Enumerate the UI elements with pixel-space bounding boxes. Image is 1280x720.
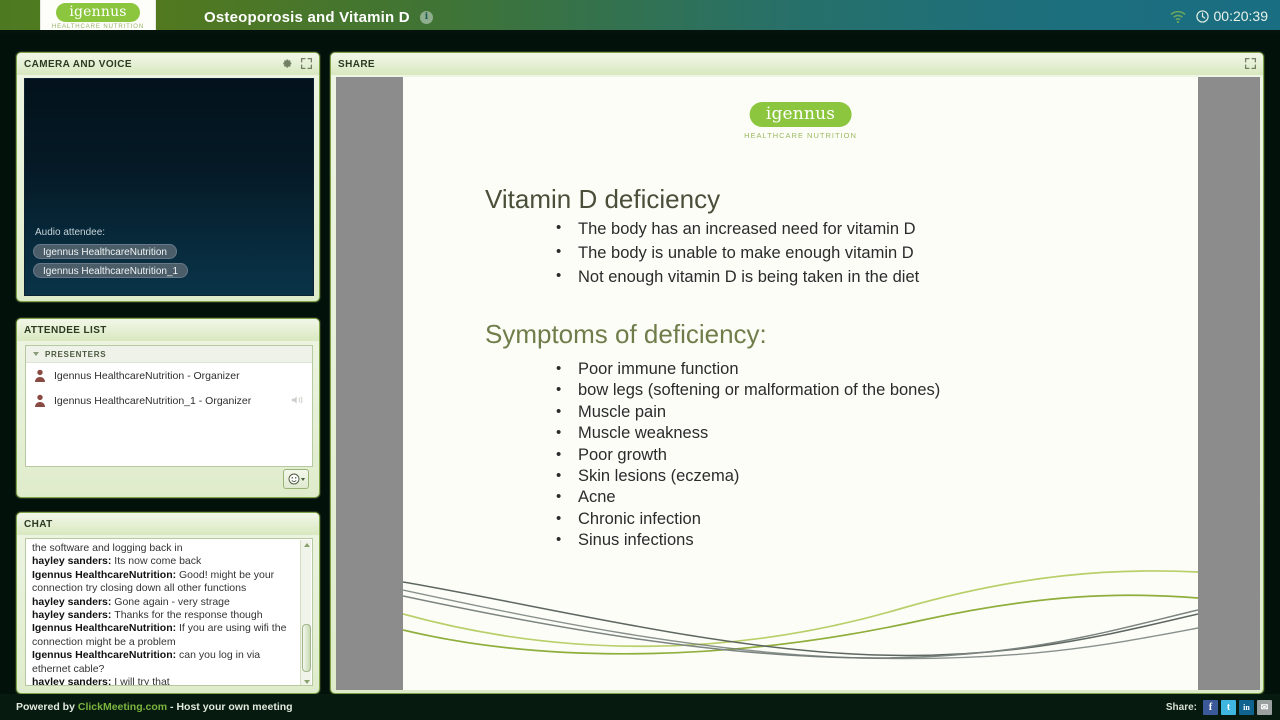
attendee-list-panel: ATTENDEE LIST PRESENTERS Igennus Healthc… <box>16 318 320 498</box>
chat-author: hayley sanders: <box>32 609 114 621</box>
slide-bullet: Muscle pain <box>548 402 940 423</box>
slide-bullet: The body is unable to make enough vitami… <box>548 241 919 265</box>
expand-icon[interactable] <box>300 57 313 70</box>
smiley-icon <box>288 473 300 485</box>
chat-author: Igennus HealthcareNutrition: <box>32 569 179 581</box>
attendee-name: Igennus HealthcareNutrition - Organizer <box>54 370 240 382</box>
camera-and-voice-panel: CAMERA AND VOICE Audio attendee: Igennus… <box>16 52 320 302</box>
chat-text: Gone again - very strage <box>114 596 230 608</box>
share-panel: SHARE igennus HEALTHCARE NUTRITION Vitam… <box>330 52 1264 694</box>
chat-panel: CHAT the software and logging back inhay… <box>16 512 320 694</box>
slide-bullets-symptoms: Poor immune functionbow legs (softening … <box>548 359 940 552</box>
person-icon <box>34 394 46 407</box>
brand-logo: igennus HEALTHCARE NUTRITION <box>40 0 156 34</box>
chat-message: Igennus HealthcareNutrition: Good! might… <box>32 569 298 596</box>
slide-bullet: Chronic infection <box>548 509 940 530</box>
attendee-row[interactable]: Igennus HealthcareNutrition_1 - Organize… <box>26 388 312 413</box>
attendee-row[interactable]: Igennus HealthcareNutrition - Organizer <box>26 363 312 388</box>
chevron-down-icon[interactable] <box>301 478 305 481</box>
slide-bullet: Not enough vitamin D is being taken in t… <box>548 265 919 289</box>
attendee-name: Igennus HealthcareNutrition_1 - Organize… <box>54 395 251 407</box>
audio-attendee-label: Audio attendee: <box>35 227 105 238</box>
powered-suffix: - Host your own meeting <box>167 701 292 713</box>
share-panel-header: SHARE <box>331 53 1263 75</box>
slide-bullets-causes: The body has an increased need for vitam… <box>548 217 919 289</box>
expand-icon[interactable] <box>1244 57 1257 70</box>
slide-bullet: Poor growth <box>548 445 940 466</box>
brand-logo-name: igennus <box>56 3 139 22</box>
twitter-share-button[interactable]: t <box>1221 700 1236 715</box>
camera-video-feed[interactable]: Audio attendee: Igennus HealthcareNutrit… <box>24 78 314 296</box>
emoji-button[interactable] <box>283 469 309 489</box>
timer-value: 00:20:39 <box>1214 8 1269 24</box>
presenters-group-label: PRESENTERS <box>45 350 106 359</box>
chat-author: hayley sanders: <box>32 596 114 608</box>
chat-author: Igennus HealthcareNutrition: <box>32 622 179 634</box>
chat-author: hayley sanders: <box>32 555 114 567</box>
info-icon[interactable]: i <box>420 11 433 24</box>
facebook-share-button[interactable]: f <box>1203 700 1218 715</box>
camera-panel-title: CAMERA AND VOICE <box>24 59 132 70</box>
brand-logo-tagline: HEALTHCARE NUTRITION <box>52 24 144 30</box>
powered-by: Powered by ClickMeeting.com - Host your … <box>16 701 293 713</box>
attendee-panel-title: ATTENDEE LIST <box>24 325 107 336</box>
gear-icon[interactable] <box>280 57 293 70</box>
share-label: Share: <box>1166 702 1197 713</box>
email-share-button[interactable]: ✉ <box>1257 700 1272 715</box>
clickmeeting-link[interactable]: ClickMeeting.com <box>78 701 167 713</box>
chat-panel-header: CHAT <box>17 513 319 535</box>
audio-attendee-badge: Igennus HealthcareNutrition_1 <box>33 263 188 278</box>
wifi-icon <box>1170 11 1186 23</box>
slide-logo-name: igennus <box>750 102 851 127</box>
webinar-app: igennus HEALTHCARE NUTRITION Osteoporosi… <box>0 0 1280 720</box>
slide-bullet: bow legs (softening or malformation of t… <box>548 380 940 401</box>
linkedin-share-button[interactable]: in <box>1239 700 1254 715</box>
page-title: Osteoporosis and Vitamin D <box>204 9 410 26</box>
chat-message: hayley sanders: Thanks for the response … <box>32 609 298 622</box>
slide-bullet: Acne <box>548 487 940 508</box>
slide-logo-tagline: HEALTHCARE NUTRITION <box>744 131 857 140</box>
presenters-group-header[interactable]: PRESENTERS <box>26 346 312 363</box>
slide-bullet: Skin lesions (eczema) <box>548 466 940 487</box>
chat-author: hayley sanders: <box>32 676 114 686</box>
slide-heading-2: Symptoms of deficiency: <box>485 319 767 350</box>
chat-text: the software and logging back in <box>32 542 183 554</box>
chat-message: Igennus HealthcareNutrition: can you log… <box>32 649 298 676</box>
clock-icon <box>1196 10 1209 23</box>
slide-heading-1: Vitamin D deficiency <box>485 184 720 215</box>
powered-prefix: Powered by <box>16 701 78 713</box>
chat-message: hayley sanders: Its now come back <box>32 555 298 568</box>
attendee-panel-header: ATTENDEE LIST <box>17 319 319 341</box>
chat-message: hayley sanders: Gone again - very strage <box>32 596 298 609</box>
chat-message: Igennus HealthcareNutrition: If you are … <box>32 622 298 649</box>
chat-text: Thanks for the response though <box>114 609 262 621</box>
chat-text: Its now come back <box>114 555 201 567</box>
audio-attendee-badge: Igennus HealthcareNutrition <box>33 244 177 259</box>
person-icon <box>34 369 46 382</box>
chat-author: Igennus HealthcareNutrition: <box>32 649 179 661</box>
slide-bullet: Sinus infections <box>548 530 940 551</box>
chat-scrollbar[interactable] <box>300 540 311 686</box>
session-timer: 00:20:39 <box>1196 8 1269 24</box>
chat-messages[interactable]: the software and logging back inhayley s… <box>25 538 313 686</box>
camera-panel-header: CAMERA AND VOICE <box>17 53 319 75</box>
share-panel-title: SHARE <box>338 59 375 70</box>
slide-bullet: Muscle weakness <box>548 423 940 444</box>
scroll-down-button[interactable] <box>301 677 312 686</box>
footer-bar: Powered by ClickMeeting.com - Host your … <box>0 694 1280 720</box>
slide-logo: igennus HEALTHCARE NUTRITION <box>744 102 857 140</box>
chat-message: the software and logging back in <box>32 542 298 555</box>
chat-text: I will try that <box>114 676 169 686</box>
presentation-stage: igennus HEALTHCARE NUTRITION Vitamin D d… <box>336 77 1260 690</box>
chat-message: hayley sanders: I will try that <box>32 676 298 686</box>
social-share-group: Share: ftin✉ <box>1166 700 1272 715</box>
chat-panel-title: CHAT <box>24 519 53 530</box>
slide-bullet: The body has an increased need for vitam… <box>548 217 919 241</box>
scroll-up-button[interactable] <box>301 540 312 549</box>
speaker-icon[interactable] <box>291 394 305 406</box>
scroll-thumb[interactable] <box>302 624 311 672</box>
chevron-down-icon[interactable] <box>33 352 39 356</box>
slide-content[interactable]: igennus HEALTHCARE NUTRITION Vitamin D d… <box>403 77 1198 690</box>
attendee-list-box: PRESENTERS Igennus HealthcareNutrition -… <box>25 345 313 467</box>
slide-bullet: Poor immune function <box>548 359 940 380</box>
decorative-waves <box>403 562 1198 672</box>
top-bar: igennus HEALTHCARE NUTRITION Osteoporosi… <box>0 0 1280 34</box>
